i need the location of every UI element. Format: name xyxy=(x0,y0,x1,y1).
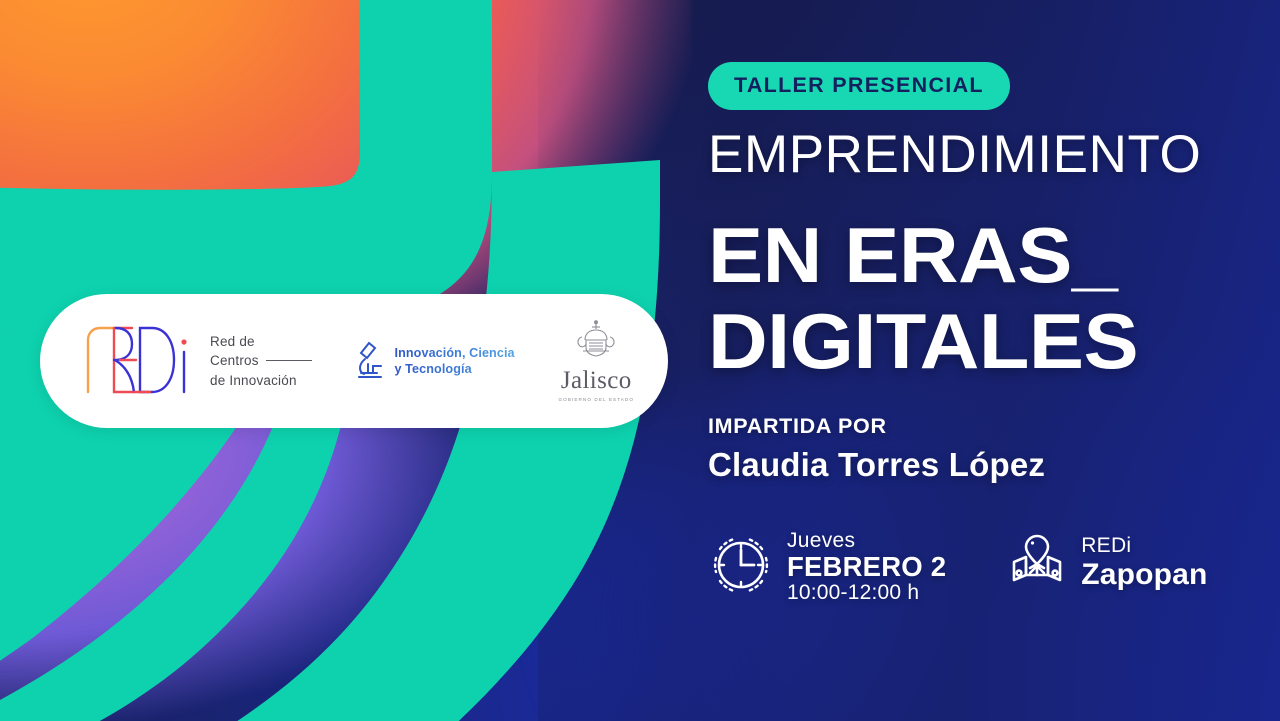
poster-content: TALLER PRESENCIAL EMPRENDIMIENTO EN ERAS… xyxy=(708,0,1268,721)
event-time: 10:00-12:00 h xyxy=(787,582,946,604)
event-poster: Red de Centros de Innovación Innovación,… xyxy=(0,0,1280,721)
clock-icon xyxy=(708,532,774,603)
redi-logo-icon xyxy=(84,322,196,401)
page-title-bold-line2: DIGITALES xyxy=(708,302,1138,380)
jalisco-crest-icon xyxy=(573,347,619,364)
speaker-label: IMPARTIDA POR xyxy=(708,414,887,439)
event-details-row: Jueves FEBRERO 2 10:00-12:00 h xyxy=(708,530,1208,604)
microscope-icon xyxy=(355,339,385,384)
page-title-light: EMPRENDIMIENTO xyxy=(708,128,1201,181)
redi-rule xyxy=(266,360,312,361)
event-weekday: Jueves xyxy=(787,530,946,552)
date-time-block: Jueves FEBRERO 2 10:00-12:00 h xyxy=(708,530,946,604)
redi-line-3: de Innovación xyxy=(210,373,297,388)
location-place: Zapopan xyxy=(1081,559,1207,590)
ict-line-1: Innovación, Ciencia xyxy=(394,346,514,360)
partner-logo-bar: Red de Centros de Innovación Innovación,… xyxy=(40,294,668,428)
jalisco-tagline: GOBIERNO DEL ESTADO xyxy=(558,397,634,402)
redi-line-2: Centros xyxy=(210,353,259,368)
redi-logo-text: Red de Centros de Innovación xyxy=(210,332,312,389)
date-time-text: Jueves FEBRERO 2 10:00-12:00 h xyxy=(787,530,946,604)
speaker-name: Claudia Torres López xyxy=(708,446,1045,484)
redi-logo: Red de Centros de Innovación xyxy=(84,322,312,401)
location-text: REDi Zapopan xyxy=(1081,535,1207,591)
status-badge: TALLER PRESENCIAL xyxy=(708,62,1010,110)
ict-logo-text: Innovación, Ciencia y Tecnología xyxy=(394,345,514,378)
jalisco-logo: Jalisco GOBIERNO DEL ESTADO xyxy=(558,320,634,402)
location-org: REDi xyxy=(1081,535,1207,557)
jalisco-name: Jalisco xyxy=(558,368,634,393)
page-title-bold-line1: EN ERAS_ xyxy=(708,216,1117,294)
map-location-icon xyxy=(1006,530,1068,597)
redi-line-1: Red de xyxy=(210,334,255,349)
location-block: REDi Zapopan xyxy=(1006,530,1207,597)
ict-line-2: y Tecnología xyxy=(394,362,471,376)
ict-logo: Innovación, Ciencia y Tecnología xyxy=(355,339,514,384)
event-date: FEBRERO 2 xyxy=(787,553,946,582)
